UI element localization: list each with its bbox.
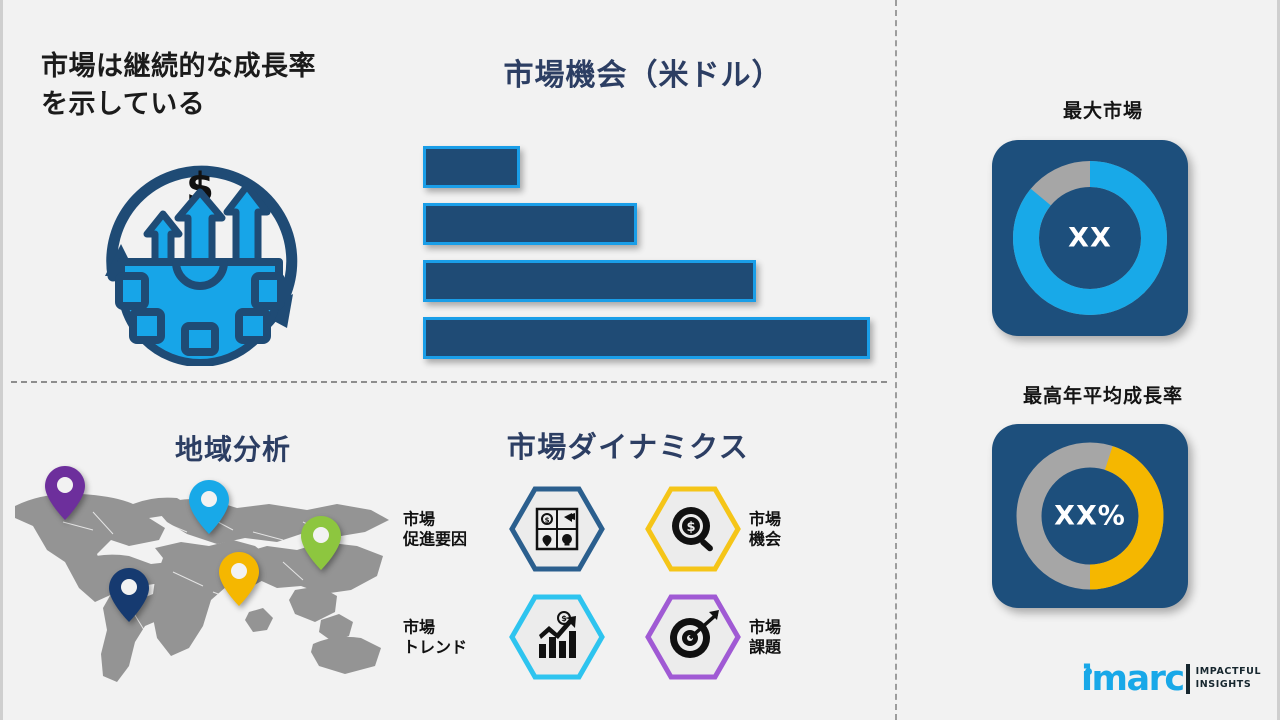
svg-text:$: $: [545, 517, 550, 525]
pin-middle-east: [217, 550, 261, 612]
world-map: [3, 462, 403, 702]
market-opportunities-hex: $: [645, 486, 741, 572]
dynamics-item-market-drivers[interactable]: 市場 促進要因 $: [403, 480, 628, 580]
pin-east-asia: [299, 514, 343, 576]
logo-divider: [1186, 664, 1190, 694]
opportunity-panel-title: 市場機会（米ドル）: [433, 50, 853, 94]
dynamics-item-market-trends[interactable]: 市場 トレンド $: [403, 588, 628, 688]
growth-cycle-gear-icon: $: [75, 126, 325, 366]
dynamics-item-market-opportunities[interactable]: $ 市場 機会: [635, 480, 860, 580]
logo-brand: imarc: [1081, 659, 1184, 699]
logo-tagline-2: INSIGHTS: [1196, 679, 1262, 692]
market-challenges-label: 市場 課題: [749, 618, 844, 659]
slide-canvas: 市場は継続的な成長率 を示している $: [0, 0, 1280, 720]
dynamics-item-market-challenges[interactable]: 市場 課題: [635, 588, 860, 688]
dynamics-panel-title: 市場ダイナミクス: [413, 424, 843, 466]
market-drivers-label: 市場 促進要因: [403, 510, 491, 551]
highest-cagr-card: XX%: [992, 424, 1188, 608]
highest-cagr-title: 最高年平均成長率: [963, 381, 1243, 408]
market-drivers-hex: $: [509, 486, 605, 572]
market-trends-hex: $: [509, 594, 605, 680]
horizontal-divider: [11, 381, 887, 383]
highest-cagr-value: XX%: [992, 501, 1188, 532]
bar-2: [423, 203, 637, 245]
largest-market-value: XX: [992, 223, 1188, 254]
largest-market-title: 最大市場: [963, 96, 1243, 123]
largest-market-card: XX: [992, 140, 1188, 336]
vertical-divider: [895, 0, 897, 720]
market-trends-label: 市場 トレンド: [403, 618, 491, 659]
market-opportunities-label: 市場 機会: [749, 510, 844, 551]
growth-panel-title: 市場は継続的な成長率 を示している: [41, 48, 391, 125]
dynamics-grid: 市場 促進要因 $: [403, 480, 853, 680]
svg-text:$: $: [561, 614, 567, 623]
bar-3: [423, 260, 756, 302]
pin-north-america: [43, 464, 87, 526]
logo-tagline-1: IMPACTFUL: [1196, 666, 1262, 679]
logo-dot-icon: [1085, 668, 1092, 675]
svg-text:$: $: [686, 520, 695, 535]
opportunity-bar-chart: [423, 146, 883, 346]
bar-1: [423, 146, 520, 188]
bar-4: [423, 317, 870, 359]
market-challenges-hex: [645, 594, 741, 680]
pin-europe: [187, 478, 231, 540]
imarc-logo: imarc IMPACTFUL INSIGHTS: [1081, 658, 1261, 700]
pin-south-america: [107, 566, 151, 628]
